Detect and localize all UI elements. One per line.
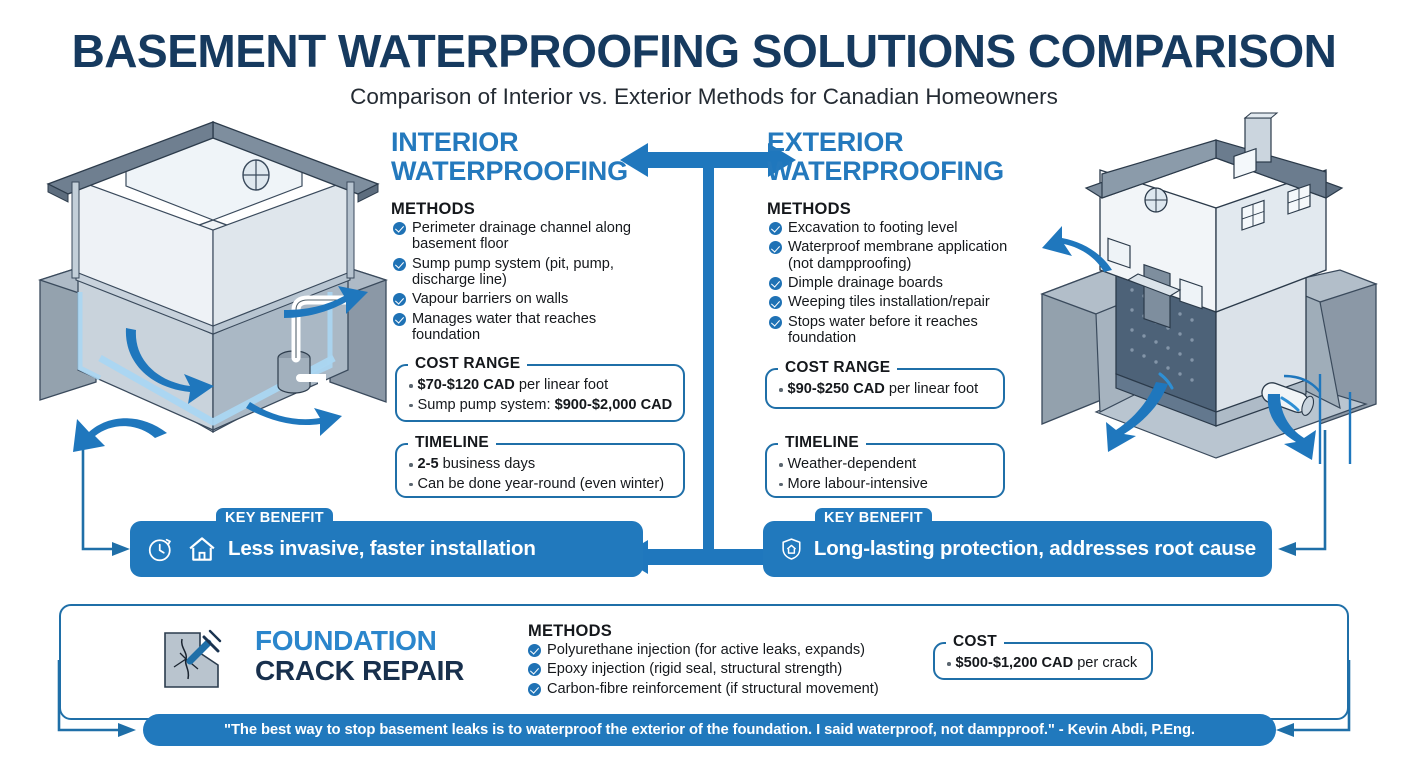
bullet-dot-icon <box>409 483 413 487</box>
method-item: Epoxy injection (rigid seal, structural … <box>528 661 908 677</box>
interior-heading-line2: WATERPROOFING <box>391 157 628 186</box>
exterior-timeline-row: More labour-intensive <box>779 476 993 494</box>
method-item: Manages water that reaches foundation <box>393 311 645 344</box>
exterior-methods-list: Excavation to footing level Waterproof m… <box>769 220 1031 349</box>
bullet-dot-icon <box>779 483 783 487</box>
clock-rotate-icon <box>146 534 176 564</box>
cost-unit: per linear foot <box>515 377 608 393</box>
interior-cost-legend: COST RANGE <box>408 355 527 373</box>
crack-repair-title: FOUNDATION CRACK REPAIR <box>255 626 464 685</box>
interior-heading: INTERIOR WATERPROOFING <box>391 128 628 186</box>
infographic-canvas: BASEMENT WATERPROOFING SOLUTIONS COMPARI… <box>0 0 1408 768</box>
interior-cost-box: COST RANGE $70-$120 CAD per linear foot … <box>395 364 685 422</box>
cutaway-house-interior-drainage-illustration <box>38 120 388 460</box>
cost-unit: per linear foot <box>885 381 978 397</box>
cost-value: $90-$250 CAD <box>788 381 885 397</box>
exterior-cost-row: $90-$250 CAD per linear foot <box>779 381 993 399</box>
crack-repair-title-line1: FOUNDATION <box>255 626 464 656</box>
bullet-dot-icon <box>779 388 783 392</box>
check-circle-icon <box>769 277 782 290</box>
timeline-value: 2-5 <box>418 456 439 472</box>
interior-methods-list: Perimeter drainage channel along basemen… <box>393 220 645 346</box>
crack-repair-cost-legend: COST <box>946 633 1004 651</box>
method-item: Waterproof membrane application (not dam… <box>769 239 1031 272</box>
cost-value: $70-$120 CAD <box>418 377 515 393</box>
interior-cost-row: Sump pump system: $900-$2,000 CAD <box>409 397 673 415</box>
crack-repair-cost-box: COST $500-$1,200 CAD per crack <box>933 642 1153 680</box>
check-circle-icon <box>769 316 782 329</box>
interior-key-benefit-text: Less invasive, faster installation <box>228 537 536 561</box>
timeline-unit: business days <box>439 456 536 472</box>
exterior-methods-label: METHODS <box>767 200 851 219</box>
method-item: Stops water before it reaches foundation <box>769 314 1031 347</box>
interior-heading-line1: INTERIOR <box>391 128 628 157</box>
method-item: Polyurethane injection (for active leaks… <box>528 642 908 658</box>
method-item: Weeping tiles installation/repair <box>769 294 1031 310</box>
crack-repair-methods-list: Polyurethane injection (for active leaks… <box>528 642 908 700</box>
exterior-cost-box: COST RANGE $90-$250 CAD per linear foot <box>765 368 1005 409</box>
exterior-key-benefit-tag: KEY BENEFIT <box>815 508 932 529</box>
check-circle-icon <box>769 296 782 309</box>
crack-repair-cost-row: $500-$1,200 CAD per crack <box>947 655 1141 673</box>
timeline-note: Can be done year-round (even winter) <box>418 476 665 494</box>
interior-timeline-row: Can be done year-round (even winter) <box>409 476 673 494</box>
check-circle-icon <box>393 293 406 306</box>
house-icon <box>186 534 218 564</box>
cost-value: $900-$2,000 CAD <box>555 397 673 413</box>
crack-repair-title-line2: CRACK REPAIR <box>255 656 464 686</box>
check-circle-icon <box>393 222 406 235</box>
crack-syringe-injection-icon <box>160 625 226 693</box>
method-item: Sump pump system (pit, pump, discharge l… <box>393 256 645 289</box>
interior-timeline-box: TIMELINE 2-5 business days Can be done y… <box>395 443 685 498</box>
page-title: BASEMENT WATERPROOFING SOLUTIONS COMPARI… <box>0 24 1408 78</box>
exterior-timeline-row: Weather-dependent <box>779 456 993 474</box>
exterior-timeline-legend: TIMELINE <box>778 434 866 452</box>
interior-timeline-legend: TIMELINE <box>408 434 496 452</box>
exterior-heading: EXTERIOR WATERPROOFING <box>767 128 1004 186</box>
exterior-heading-line2: WATERPROOFING <box>767 157 1004 186</box>
interior-cost-row: $70-$120 CAD per linear foot <box>409 377 673 395</box>
method-item: Carbon-fibre reinforcement (if structura… <box>528 681 908 697</box>
cost-unit: per crack <box>1073 655 1137 671</box>
bullet-dot-icon <box>409 404 413 408</box>
exterior-key-benefit-banner: KEY BENEFIT Long-lasting protection, add… <box>763 521 1272 577</box>
method-item: Vapour barriers on walls <box>393 291 645 307</box>
timeline-note: More labour-intensive <box>788 476 928 494</box>
check-circle-icon <box>769 222 782 235</box>
interior-key-benefit-tag: KEY BENEFIT <box>216 508 333 529</box>
method-item: Dimple drainage boards <box>769 275 1031 291</box>
exterior-key-benefit-text: Long-lasting protection, addresses root … <box>814 537 1256 561</box>
center-comparison-bar <box>703 158 714 550</box>
bullet-dot-icon <box>947 662 951 666</box>
crack-repair-methods-label: METHODS <box>528 622 612 641</box>
exterior-cost-legend: COST RANGE <box>778 359 897 377</box>
method-item: Perimeter drainage channel along basemen… <box>393 220 645 253</box>
check-circle-icon <box>393 258 406 271</box>
method-item: Excavation to footing level <box>769 220 1031 236</box>
check-circle-icon <box>769 241 782 254</box>
check-circle-icon <box>528 663 541 676</box>
interior-timeline-row: 2-5 business days <box>409 456 673 474</box>
shield-house-icon <box>779 533 804 565</box>
timeline-note: Weather-dependent <box>788 456 917 474</box>
check-circle-icon <box>528 644 541 657</box>
check-circle-icon <box>528 683 541 696</box>
exterior-timeline-box: TIMELINE Weather-dependent More labour-i… <box>765 443 1005 498</box>
bullet-dot-icon <box>409 384 413 388</box>
cost-value: $500-$1,200 CAD <box>956 655 1074 671</box>
check-circle-icon <box>393 313 406 326</box>
interior-methods-label: METHODS <box>391 200 475 219</box>
quote-banner: "The best way to stop basement leaks is … <box>143 714 1276 746</box>
excavated-foundation-exterior-membrane-illustration <box>1020 112 1390 464</box>
bullet-dot-icon <box>409 463 413 467</box>
cost-label: Sump pump system: <box>418 397 555 413</box>
bullet-dot-icon <box>779 463 783 467</box>
exterior-heading-line1: EXTERIOR <box>767 128 1004 157</box>
page-subtitle: Comparison of Interior vs. Exterior Meth… <box>0 84 1408 110</box>
interior-key-benefit-banner: KEY BENEFIT Less invasive, faster instal… <box>130 521 643 577</box>
